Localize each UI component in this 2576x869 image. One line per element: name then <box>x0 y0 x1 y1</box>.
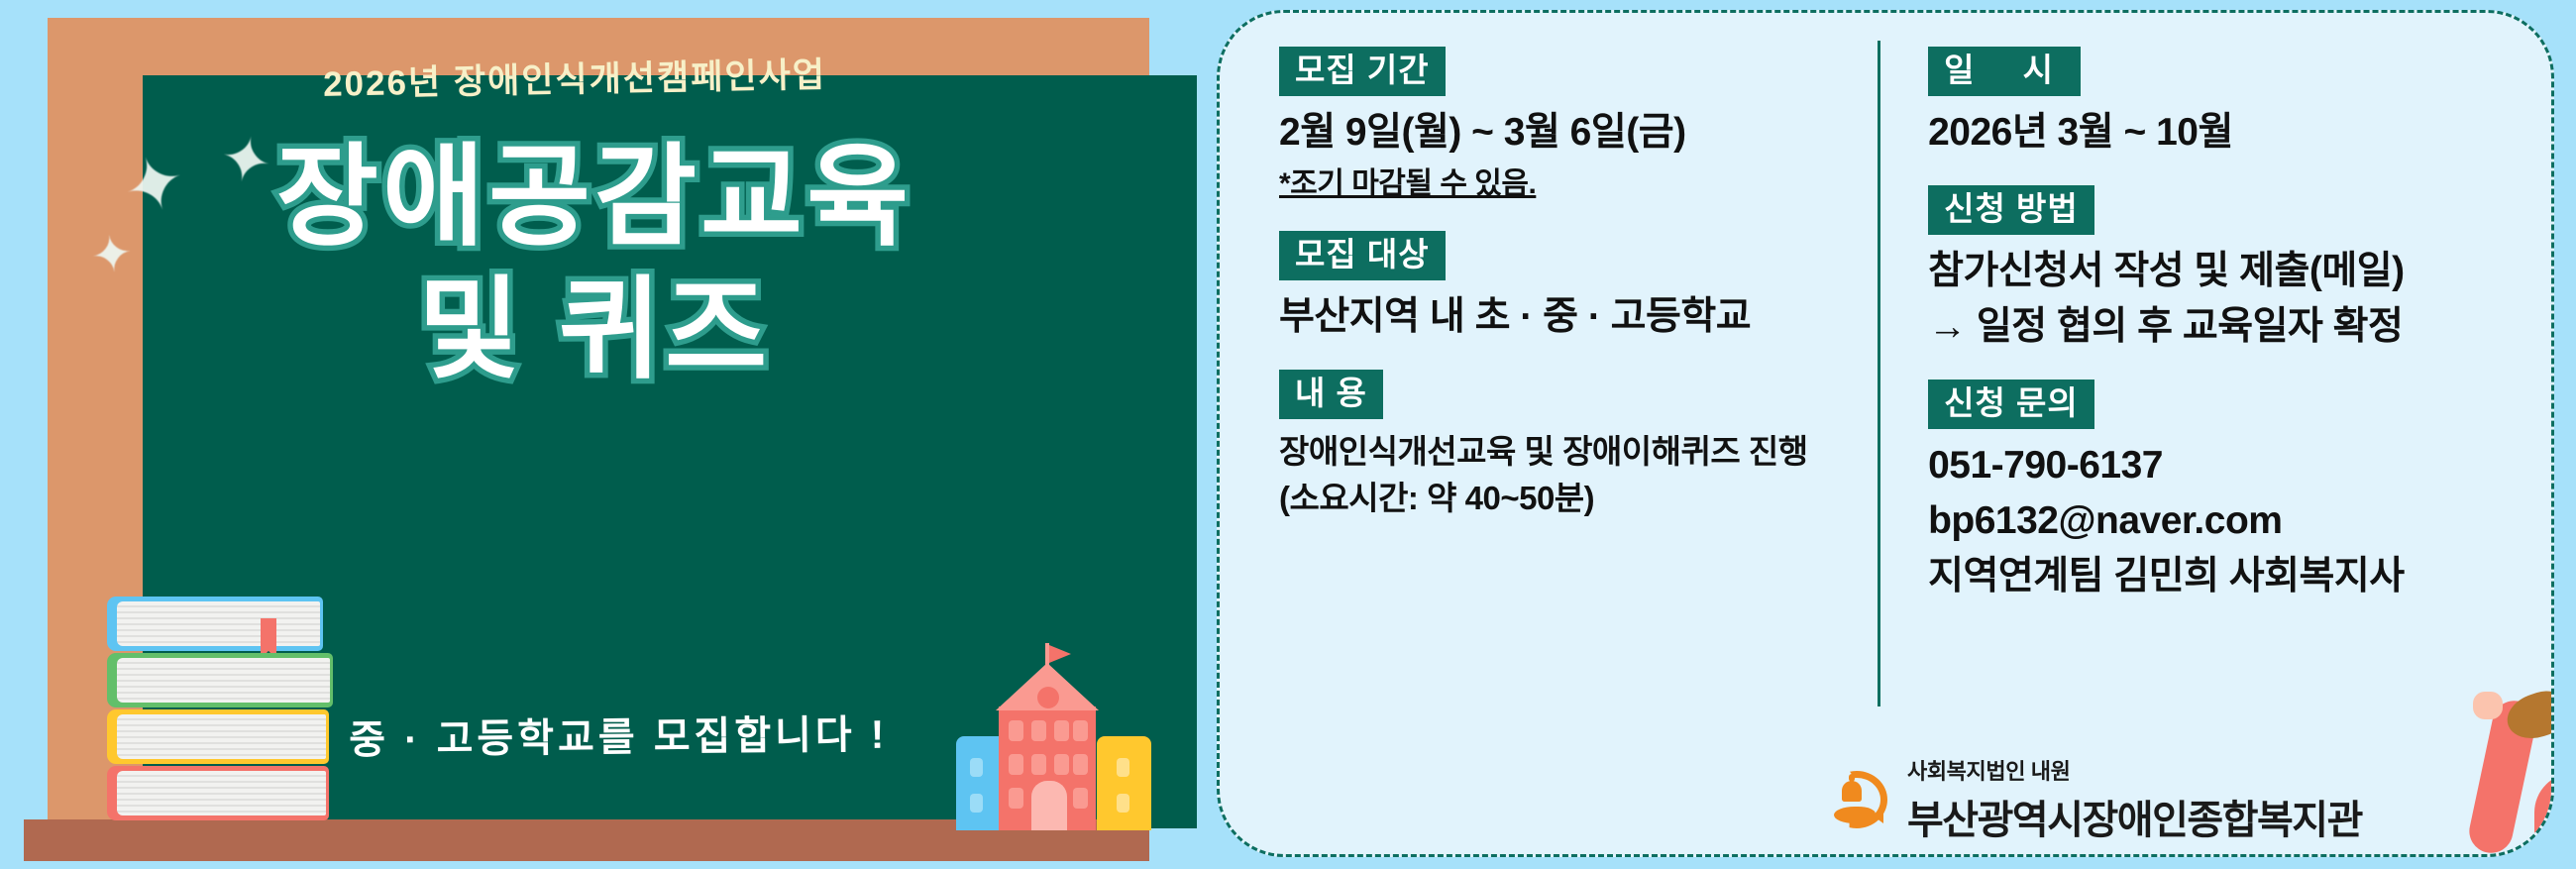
window <box>1031 720 1046 741</box>
clock-icon <box>1037 687 1059 708</box>
inquiry-tag: 신청 문의 <box>1928 380 2094 429</box>
recruit-target-tag: 모집 대상 <box>1279 231 1446 280</box>
logo-subtitle: 사회복지법인 내원 <box>1907 754 2362 786</box>
window <box>1009 788 1023 809</box>
inquiry-staff: 지역연계팀 김민희 사회복지사 <box>1928 550 2551 603</box>
page-title-line2: 및 퀴즈 <box>40 264 1149 396</box>
book-pages <box>117 714 326 759</box>
organization-logo: 사회복지법인 내원 부산광역시장애인종합복지관 <box>1824 754 2362 845</box>
bell-icon <box>1842 781 1862 802</box>
program-content-tag: 내 용 <box>1279 370 1383 419</box>
apply-method-tag: 신청 방법 <box>1928 185 2094 235</box>
page-title: 장애공감교육 및 퀴즈 <box>40 131 1149 397</box>
red-book-icon <box>107 766 329 820</box>
flag-icon <box>1049 645 1071 663</box>
page-title-line1: 장애공감교육 <box>276 135 912 259</box>
window <box>1031 754 1046 775</box>
book-pages <box>117 601 320 646</box>
window <box>1073 754 1088 775</box>
window <box>1054 720 1069 741</box>
recruit-period-note: *조기 마감될 수 있음. <box>1279 163 1871 204</box>
book-pages <box>117 658 330 703</box>
info-column-right: 일 시 2026년 3월 ~ 10월 신청 방법 참가신청서 작성 및 제출(메… <box>1871 13 2551 854</box>
book-pages <box>117 771 326 815</box>
blue-book-icon <box>107 597 323 651</box>
yellow-book-icon <box>107 709 329 764</box>
inquiry-email[interactable]: bp6132@naver.com <box>1928 494 2551 548</box>
info-card: 모집 기간 2월 9일(월) ~ 3월 6일(금) *조기 마감될 수 있음. … <box>1217 10 2554 857</box>
window <box>1009 720 1023 741</box>
program-content-line1: 장애인식개선교육 및 장애이해퀴즈 진행 <box>1279 429 1871 475</box>
promo-banner: ✦ ✦ ✦ 2026년 장애인식개선캠페인사업 장애공감교육 및 퀴즈 초 · … <box>0 0 2576 869</box>
apply-method-block: 신청 방법 참가신청서 작성 및 제출(메일) → 일정 협의 후 교육일자 확… <box>1928 185 2551 354</box>
info-columns: 모집 기간 2월 9일(월) ~ 3월 6일(금) *조기 마감될 수 있음. … <box>1220 13 2551 854</box>
apply-method-line1: 참가신청서 작성 및 제출(메일) <box>1928 245 2551 298</box>
chalkboard-area: ✦ ✦ ✦ 2026년 장애인식개선캠페인사업 장애공감교육 및 퀴즈 초 · … <box>0 0 1149 869</box>
school-door <box>1031 781 1067 830</box>
logo-text: 사회복지법인 내원 부산광역시장애인종합복지관 <box>1907 754 2362 845</box>
inquiry-block: 신청 문의 051-790-6137 bp6132@naver.com 지역연계… <box>1928 380 2551 603</box>
window <box>1117 794 1129 813</box>
green-book-icon <box>107 653 333 707</box>
schedule-block: 일 시 2026년 3월 ~ 10월 <box>1928 47 2551 160</box>
hand <box>2473 692 2503 719</box>
window <box>970 794 983 813</box>
inquiry-phone[interactable]: 051-790-6137 <box>1928 439 2551 492</box>
recruit-period-tag: 모집 기간 <box>1279 47 1446 96</box>
schedule-value: 2026년 3월 ~ 10월 <box>1928 106 2551 160</box>
recruit-period-value: 2월 9일(월) ~ 3월 6일(금) <box>1279 106 1871 160</box>
school-right-wing <box>1097 736 1151 830</box>
window <box>1073 720 1088 741</box>
fish-icon <box>1834 807 1876 823</box>
recruit-period-block: 모집 기간 2월 9일(월) ~ 3월 6일(금) *조기 마감될 수 있음. <box>1279 47 1871 205</box>
schedule-tag: 일 시 <box>1928 47 2081 96</box>
window <box>970 758 983 777</box>
body <box>2534 773 2554 854</box>
apply-method-line2: → 일정 협의 후 교육일자 확정 <box>1928 300 2551 354</box>
bell-fish-logo-icon <box>1824 769 1891 830</box>
logo-title: 부산광역시장애인종합복지관 <box>1907 788 2362 845</box>
window <box>1009 754 1023 775</box>
program-content-line2: (소요시간: 약 40~50분) <box>1279 476 1871 521</box>
window <box>1073 788 1088 809</box>
child-character-salmon <box>2473 656 2554 854</box>
recruit-target-block: 모집 대상 부산지역 내 초 · 중 · 고등학교 <box>1279 231 1871 344</box>
book-stack-illustration <box>107 597 335 826</box>
window <box>1054 754 1069 775</box>
program-content-block: 내 용 장애인식개선교육 및 장애이해퀴즈 진행 (소요시간: 약 40~50분… <box>1279 370 1871 521</box>
school-building-illustration <box>956 649 1144 830</box>
recruit-target-value: 부산지역 내 초 · 중 · 고등학교 <box>1279 290 1871 344</box>
window <box>1117 758 1129 777</box>
info-column-left: 모집 기간 2월 9일(월) ~ 3월 6일(금) *조기 마감될 수 있음. … <box>1220 13 1871 854</box>
